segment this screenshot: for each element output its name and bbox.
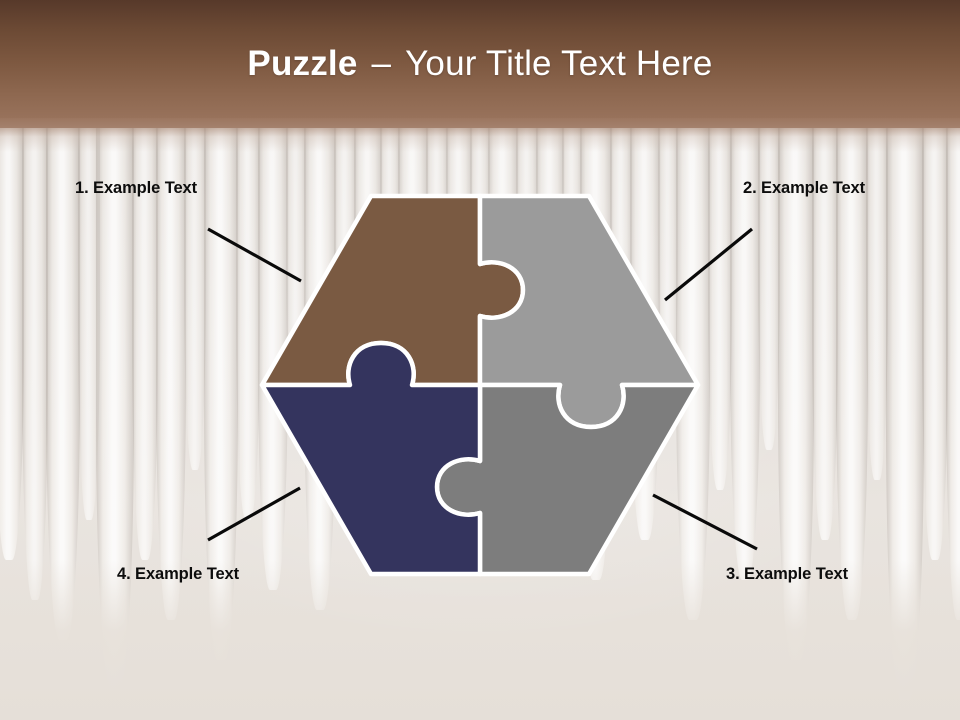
callout-label-3[interactable]: 3. Example Text (726, 565, 848, 584)
leader-line-2 (665, 229, 752, 300)
leader-line-1 (208, 229, 301, 281)
callout-label-2[interactable]: 2. Example Text (743, 179, 865, 198)
leader-line-4 (208, 488, 300, 540)
puzzle-diagram (0, 0, 960, 720)
callout-label-4[interactable]: 4. Example Text (117, 565, 239, 584)
slide-canvas: Puzzle – Your Title Text Here 1. Example… (0, 0, 960, 720)
callout-label-1[interactable]: 1. Example Text (75, 179, 197, 198)
leader-line-3 (653, 495, 757, 549)
